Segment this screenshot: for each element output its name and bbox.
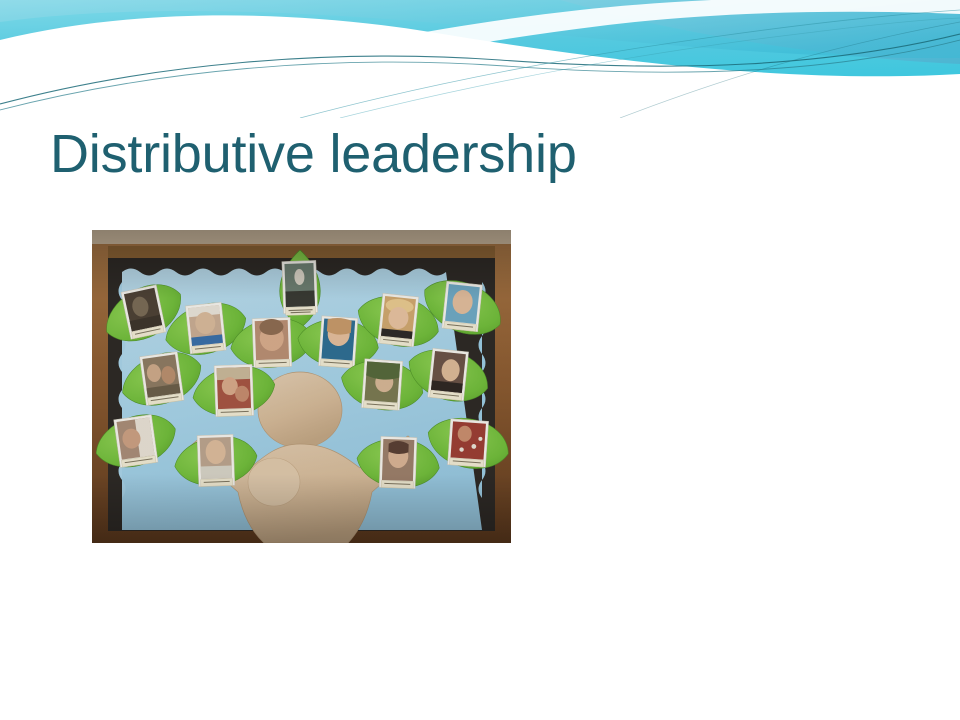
slide-header-decoration bbox=[0, 0, 960, 118]
content-photo bbox=[92, 230, 511, 543]
figure-inner-circle bbox=[248, 458, 300, 506]
page-title: Distributive leadership bbox=[50, 118, 910, 198]
wall-top bbox=[92, 230, 511, 244]
presentation-slide: Distributive leadership bbox=[0, 0, 960, 720]
